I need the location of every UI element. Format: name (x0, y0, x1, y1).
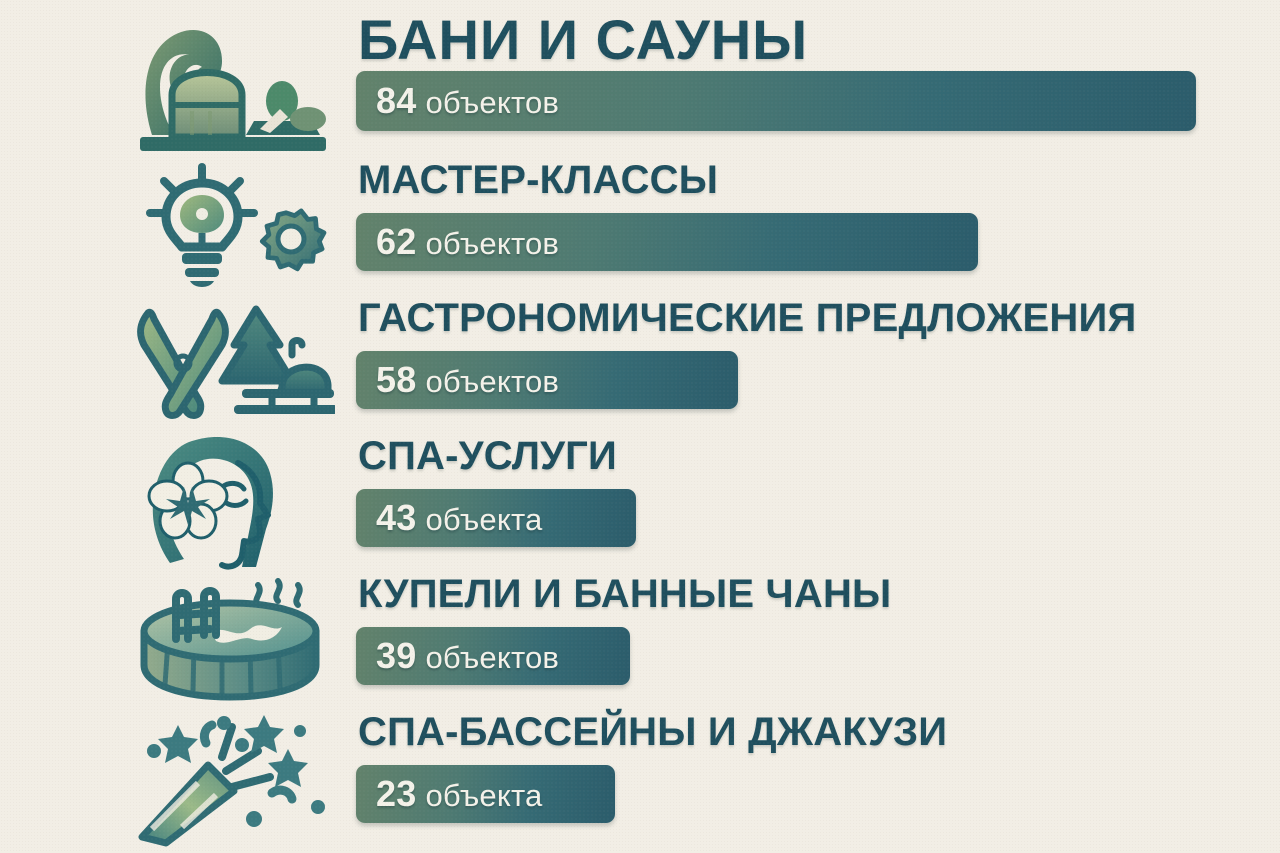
bar-unit: объектов (425, 364, 559, 399)
bar-value: 43 (376, 497, 416, 538)
bar-unit: объектов (425, 85, 559, 120)
chart-row: СПА-УСЛУГИ 43объекта (0, 432, 1280, 570)
chart-row: ГАСТРОНОМИЧЕСКИЕ ПРЕДЛОЖЕНИЯ 58объектов (0, 294, 1280, 432)
bar-unit: объектов (425, 226, 559, 261)
value-bar: 39объектов (356, 627, 630, 685)
value-bar: 58объектов (356, 351, 738, 409)
row-content: БАНИ И САУНЫ 84объектов (356, 18, 1280, 156)
bar-value: 23 (376, 773, 416, 814)
category-title: МАСТЕР-КЛАССЫ (358, 160, 718, 200)
hot-tub-icon (122, 570, 342, 708)
row-content: МАСТЕР-КЛАССЫ 62объектов (356, 156, 1280, 294)
category-title: СПА-БАССЕЙНЫ И ДЖАКУЗИ (358, 712, 947, 752)
bar-label: 62объектов (376, 224, 559, 260)
row-content: ГАСТРОНОМИЧЕСКИЕ ПРЕДЛОЖЕНИЯ 58объектов (356, 294, 1280, 432)
category-title: БАНИ И САУНЫ (358, 12, 808, 68)
bar-label: 43объекта (376, 500, 542, 536)
bar-label: 23объекта (376, 776, 542, 812)
woman-flower-face-icon (122, 432, 342, 570)
value-bar: 84объектов (356, 71, 1196, 131)
sauna-bathhouse-icon (122, 18, 342, 156)
category-title: ГАСТРОНОМИЧЕСКИЕ ПРЕДЛОЖЕНИЯ (358, 298, 1136, 338)
bar-label: 58объектов (376, 362, 559, 398)
category-title: СПА-УСЛУГИ (358, 436, 617, 476)
chart-row: БАНИ И САУНЫ 84объектов (0, 18, 1280, 156)
bar-unit: объекта (425, 502, 542, 537)
value-bar: 23объекта (356, 765, 615, 823)
row-content: КУПЕЛИ И БАННЫЕ ЧАНЫ 39объектов (356, 570, 1280, 708)
infographic-bar-chart: БАНИ И САУНЫ 84объектов (0, 0, 1280, 853)
value-bar: 62объектов (356, 213, 978, 271)
bar-value: 58 (376, 359, 416, 400)
lightbulb-gear-icon (122, 156, 342, 294)
category-title: КУПЕЛИ И БАННЫЕ ЧАНЫ (358, 574, 891, 614)
party-popper-icon (122, 708, 342, 846)
bar-value: 39 (376, 635, 416, 676)
chart-row: СПА-БАССЕЙНЫ И ДЖАКУЗИ 23объекта (0, 708, 1280, 846)
chart-row: МАСТЕР-КЛАССЫ 62объектов (0, 156, 1280, 294)
bar-unit: объектов (425, 640, 559, 675)
bar-value: 62 (376, 221, 416, 262)
bar-label: 39объектов (376, 638, 559, 674)
skis-tree-sled-icon (122, 294, 342, 432)
bar-value: 84 (376, 80, 416, 121)
row-content: СПА-БАССЕЙНЫ И ДЖАКУЗИ 23объекта (356, 708, 1280, 846)
bar-label: 84объектов (376, 83, 559, 119)
row-content: СПА-УСЛУГИ 43объекта (356, 432, 1280, 570)
bar-unit: объекта (425, 778, 542, 813)
value-bar: 43объекта (356, 489, 636, 547)
chart-row: КУПЕЛИ И БАННЫЕ ЧАНЫ 39объектов (0, 570, 1280, 708)
